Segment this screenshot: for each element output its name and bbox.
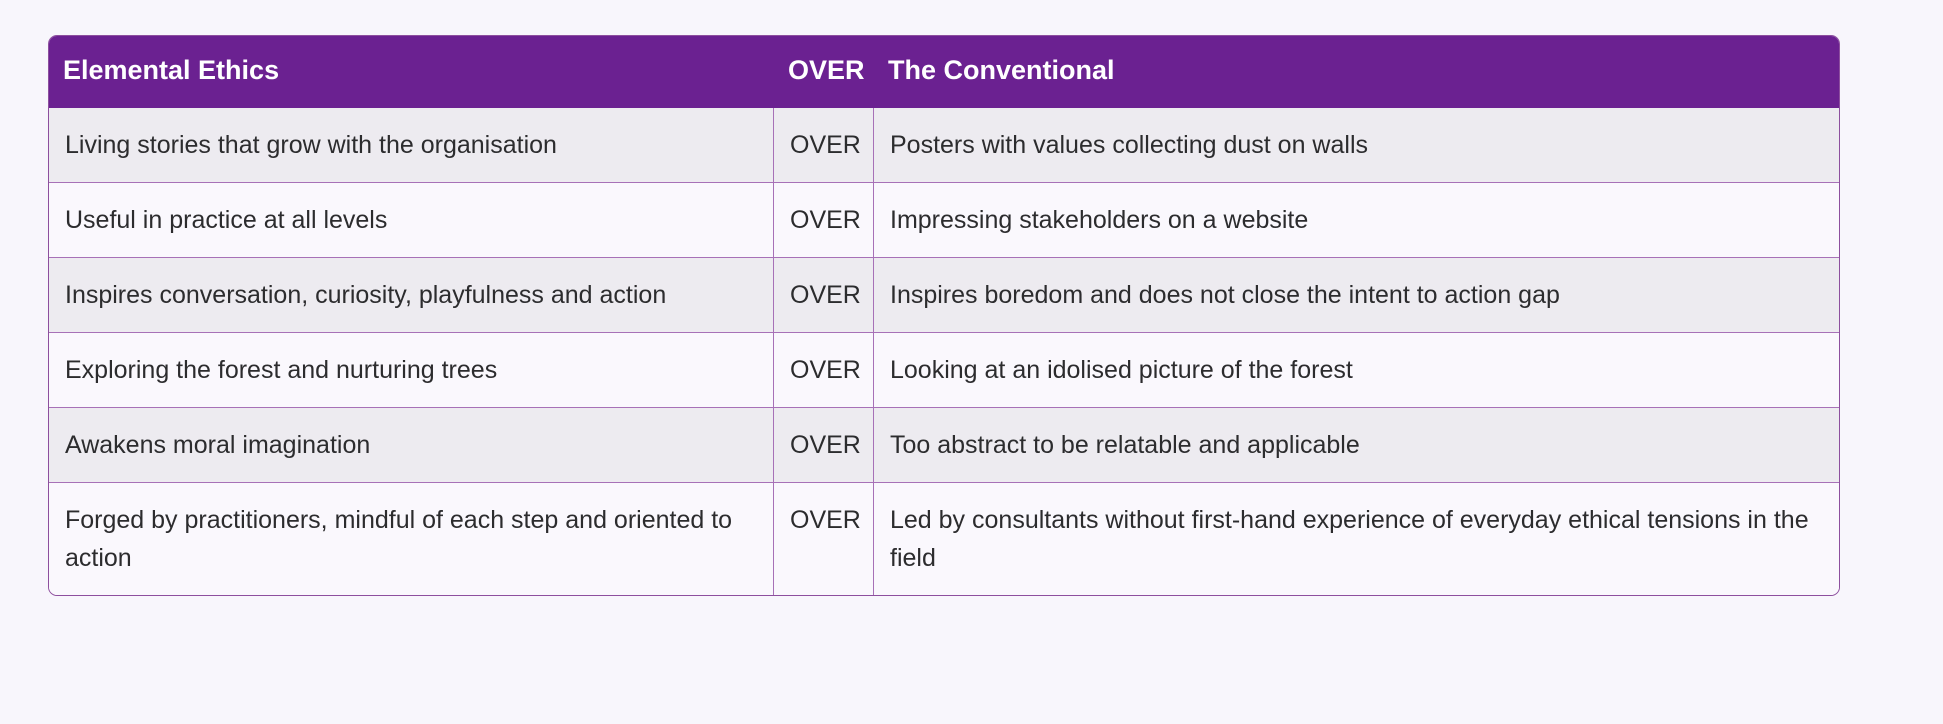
table-header-row: Elemental Ethics OVER The Conventional [49, 36, 1839, 108]
cell-over: OVER [774, 182, 874, 257]
cell-over: OVER [774, 332, 874, 407]
comparison-table-container: Elemental Ethics OVER The Conventional L… [48, 35, 1840, 596]
table-row: Awakens moral imagination OVER Too abstr… [49, 407, 1839, 482]
cell-over: OVER [774, 482, 874, 595]
cell-elemental-ethics: Living stories that grow with the organi… [49, 108, 774, 182]
cell-elemental-ethics: Awakens moral imagination [49, 407, 774, 482]
cell-elemental-ethics: Inspires conversation, curiosity, playfu… [49, 257, 774, 332]
page-root: Elemental Ethics OVER The Conventional L… [0, 0, 1943, 724]
cell-over: OVER [774, 407, 874, 482]
table-row: Living stories that grow with the organi… [49, 108, 1839, 182]
column-header-the-conventional: The Conventional [874, 36, 1839, 108]
table-row: Useful in practice at all levels OVER Im… [49, 182, 1839, 257]
cell-over: OVER [774, 257, 874, 332]
table-body: Living stories that grow with the organi… [49, 108, 1839, 595]
cell-the-conventional: Looking at an idolised picture of the fo… [874, 332, 1839, 407]
table-header: Elemental Ethics OVER The Conventional [49, 36, 1839, 108]
cell-the-conventional: Impressing stakeholders on a website [874, 182, 1839, 257]
cell-the-conventional: Led by consultants without first-hand ex… [874, 482, 1839, 595]
table-row: Exploring the forest and nurturing trees… [49, 332, 1839, 407]
cell-elemental-ethics: Useful in practice at all levels [49, 182, 774, 257]
column-header-over: OVER [774, 36, 874, 108]
table-row: Inspires conversation, curiosity, playfu… [49, 257, 1839, 332]
table-row: Forged by practitioners, mindful of each… [49, 482, 1839, 595]
cell-elemental-ethics: Forged by practitioners, mindful of each… [49, 482, 774, 595]
cell-the-conventional: Inspires boredom and does not close the … [874, 257, 1839, 332]
cell-over: OVER [774, 108, 874, 182]
cell-the-conventional: Posters with values collecting dust on w… [874, 108, 1839, 182]
column-header-elemental-ethics: Elemental Ethics [49, 36, 774, 108]
comparison-table: Elemental Ethics OVER The Conventional L… [48, 35, 1840, 596]
cell-elemental-ethics: Exploring the forest and nurturing trees [49, 332, 774, 407]
cell-the-conventional: Too abstract to be relatable and applica… [874, 407, 1839, 482]
